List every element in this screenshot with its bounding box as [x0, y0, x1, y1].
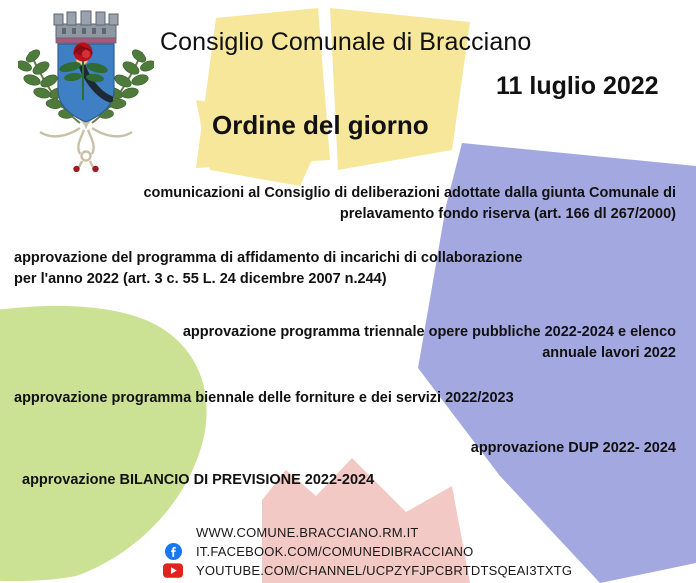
page-title: Consiglio Comunale di Bracciano: [160, 28, 531, 57]
poster-content: Consiglio Comunale di Bracciano 11 lugli…: [0, 0, 696, 583]
agenda-item-line: comunicazioni al Consiglio di deliberazi…: [0, 183, 676, 204]
footer-links: WWW.COMUNE.BRACCIANO.RM.IT IT.FACEBOOK.C…: [196, 523, 572, 580]
facebook-row[interactable]: IT.FACEBOOK.COM/COMUNEDIBRACCIANO: [196, 542, 572, 561]
agenda-item-line: approvazione DUP 2022- 2024: [0, 438, 676, 459]
agenda-item: approvazione programma biennale delle fo…: [14, 388, 674, 409]
agenda-item: approvazione DUP 2022- 2024: [0, 438, 676, 459]
agenda-item-line: approvazione BILANCIO DI PREVISIONE 2022…: [22, 470, 682, 491]
agenda-item: comunicazioni al Consiglio di deliberazi…: [0, 183, 676, 225]
website-url[interactable]: WWW.COMUNE.BRACCIANO.RM.IT: [196, 523, 419, 542]
agenda-item-line: annuale lavori 2022: [0, 343, 676, 364]
youtube-url[interactable]: YOUTUBE.COM/CHANNEL/UCPZYFJPCBRTDTSQEAI3…: [196, 561, 572, 580]
agenda-item-line: approvazione programma triennale opere p…: [0, 322, 676, 343]
agenda-item: approvazione programma triennale opere p…: [0, 322, 676, 364]
website-row[interactable]: WWW.COMUNE.BRACCIANO.RM.IT: [196, 523, 572, 542]
agenda-item: approvazione del programma di affidament…: [14, 248, 674, 290]
agenda-item-line: per l'anno 2022 (art. 3 c. 55 L. 24 dice…: [14, 269, 674, 290]
page-subtitle: Ordine del giorno: [212, 110, 429, 141]
agenda-item: approvazione BILANCIO DI PREVISIONE 2022…: [22, 470, 682, 491]
youtube-row[interactable]: YOUTUBE.COM/CHANNEL/UCPZYFJPCBRTDTSQEAI3…: [196, 561, 572, 580]
facebook-icon[interactable]: [162, 542, 184, 561]
facebook-url[interactable]: IT.FACEBOOK.COM/COMUNEDIBRACCIANO: [196, 542, 473, 561]
session-date: 11 luglio 2022: [496, 72, 659, 101]
agenda-item-line: approvazione programma biennale delle fo…: [14, 388, 674, 409]
agenda-item-line: prelavamento fondo riserva (art. 166 dl …: [0, 204, 676, 225]
poster-canvas: Consiglio Comunale di Bracciano 11 lugli…: [0, 0, 696, 583]
youtube-icon[interactable]: [162, 561, 184, 580]
agenda-item-line: approvazione del programma di affidament…: [14, 248, 674, 269]
